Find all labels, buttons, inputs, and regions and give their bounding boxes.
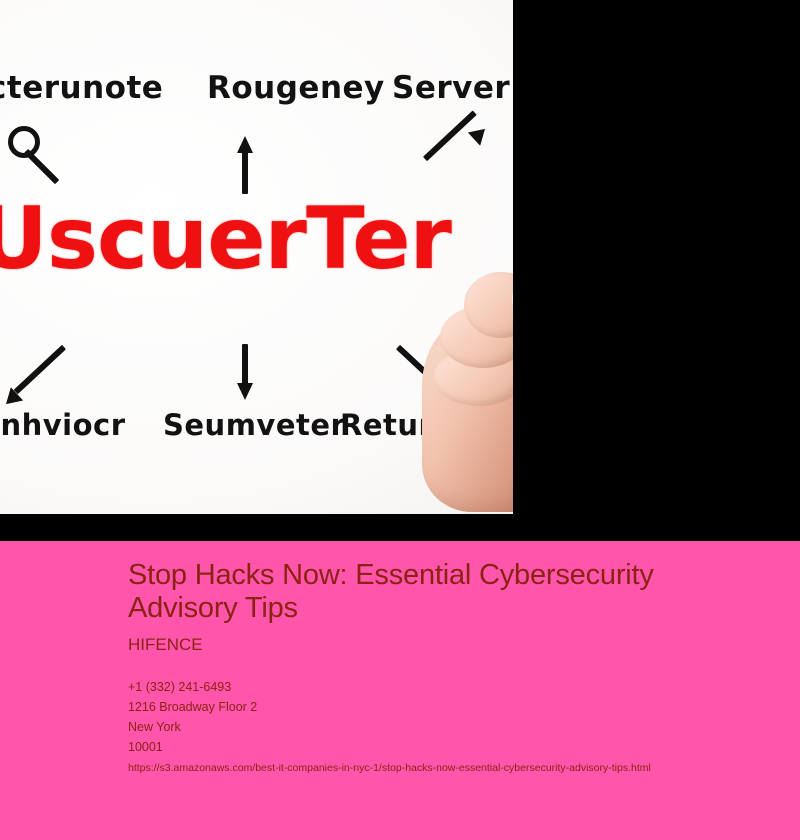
contact-zip: 10001: [128, 737, 760, 757]
company-name: HIFENCE: [128, 635, 760, 655]
contact-city: New York: [128, 717, 760, 737]
source-url-link[interactable]: https://s3.amazonaws.com/best-it-compani…: [128, 761, 760, 776]
arrow-up-right-icon: [423, 128, 485, 190]
whiteboard-image: cterunote Rougeney Server UscuerTer: [0, 0, 513, 514]
arrow-down-left-icon: [6, 342, 68, 404]
info-panel: Stop Hacks Now: Essential Cybersecurity …: [0, 541, 800, 840]
board-label-bottom-middle: Seumveter: [163, 408, 345, 442]
board-label-top-left: cterunote: [0, 70, 163, 106]
arrow-down-right-shaft: [396, 345, 441, 388]
arrow-down-head: [237, 383, 253, 400]
arrow-up-shaft: [242, 150, 248, 194]
page-title: Stop Hacks Now: Essential Cybersecurity …: [128, 559, 760, 625]
contact-phone: +1 (332) 241-6493: [128, 677, 760, 697]
contact-street: 1216 Broadway Floor 2: [128, 697, 760, 717]
contact-details: +1 (332) 241-6493 1216 Broadway Floor 2 …: [128, 677, 760, 757]
board-center-text: UscuerTer: [0, 196, 451, 282]
arrow-down-left-shaft: [14, 345, 66, 394]
search-icon: [6, 126, 66, 188]
board-label-top-middle: Rougeney: [207, 70, 385, 106]
arrow-down-shaft: [242, 344, 248, 386]
board-label-bottom-right: Returdng: [340, 408, 497, 442]
arrow-down-icon: [237, 344, 253, 400]
info-content: Stop Hacks Now: Essential Cybersecurity …: [128, 559, 760, 776]
search-icon-handle: [24, 149, 59, 184]
arrow-up-icon: [237, 136, 253, 194]
page-root: cterunote Rougeney Server UscuerTer: [0, 0, 800, 840]
board-label-top-right: Server: [392, 70, 510, 106]
board-label-bottom-left: inhviocr: [0, 408, 126, 442]
arrow-down-right-icon: [398, 344, 448, 390]
